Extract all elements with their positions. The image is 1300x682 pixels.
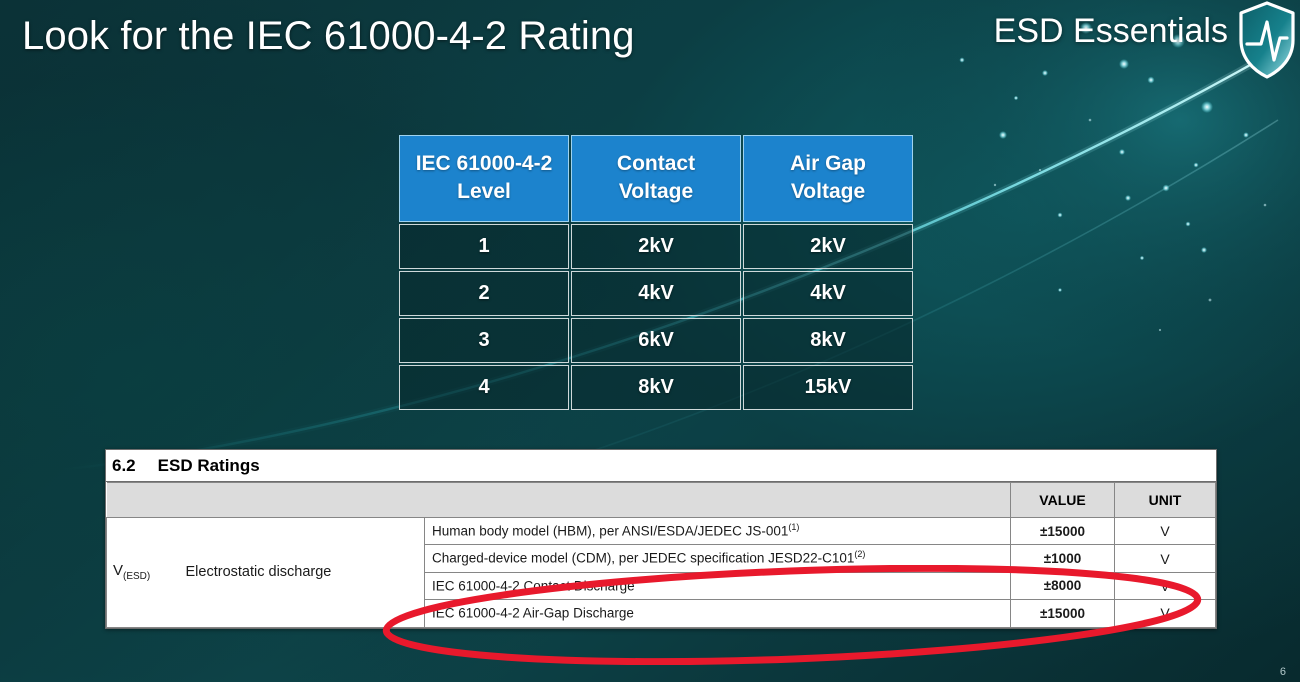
header-line-1: Air Gap — [790, 152, 866, 175]
cell-value: ±15000 — [1011, 518, 1115, 545]
column-header-air-gap-voltage: Air Gap Voltage — [743, 135, 913, 222]
description-text: Charged-device model (CDM), per JEDEC sp… — [432, 551, 854, 566]
cell-description: Charged-device model (CDM), per JEDEC sp… — [425, 545, 1011, 572]
cell-contact: 2kV — [571, 224, 741, 269]
symbol-subscript: (ESD) — [123, 571, 150, 582]
cell-level: 3 — [399, 318, 569, 363]
page-number: 6 — [1280, 666, 1286, 678]
header-line-2: Voltage — [791, 180, 865, 203]
esd-ratings-table: VALUE UNIT V(ESD) Electrostatic discharg… — [106, 482, 1216, 628]
table-row: 4 8kV 15kV — [399, 365, 913, 410]
footnote-marker: (2) — [854, 549, 865, 559]
cell-parameter: Electrostatic discharge — [179, 518, 425, 628]
header-line-2: Level — [457, 180, 511, 203]
table-row: V(ESD) Electrostatic discharge Human bod… — [107, 518, 1216, 545]
header-line-1: Contact — [617, 152, 695, 175]
column-header-unit: UNIT — [1115, 483, 1216, 518]
section-number: 6.2 — [112, 456, 136, 476]
cell-air-gap: 2kV — [743, 224, 913, 269]
cell-value: ±1000 — [1011, 545, 1115, 572]
cell-air-gap: 4kV — [743, 271, 913, 316]
table-header-row: VALUE UNIT — [107, 483, 1216, 518]
cell-contact: 4kV — [571, 271, 741, 316]
cell-unit: V — [1115, 600, 1216, 627]
cell-level: 1 — [399, 224, 569, 269]
cell-contact: 8kV — [571, 365, 741, 410]
cell-description: IEC 61000-4-2 Contact Discharge — [425, 572, 1011, 599]
cell-air-gap: 8kV — [743, 318, 913, 363]
cell-symbol: V(ESD) — [107, 518, 179, 628]
cell-value: ±8000 — [1011, 572, 1115, 599]
cell-unit: V — [1115, 572, 1216, 599]
iec-level-table: IEC 61000-4-2 Level Contact Voltage Air … — [397, 133, 915, 412]
header-line-2: Voltage — [619, 180, 693, 203]
column-header-level: IEC 61000-4-2 Level — [399, 135, 569, 222]
cell-description: Human body model (HBM), per ANSI/ESDA/JE… — [425, 518, 1011, 545]
cell-level: 2 — [399, 271, 569, 316]
cell-description: IEC 61000-4-2 Air-Gap Discharge — [425, 600, 1011, 627]
footnote-marker: (1) — [788, 522, 799, 532]
table-row: 3 6kV 8kV — [399, 318, 913, 363]
description-text: Human body model (HBM), per ANSI/ESDA/JE… — [432, 524, 788, 539]
column-header-contact-voltage: Contact Voltage — [571, 135, 741, 222]
table-row: 1 2kV 2kV — [399, 224, 913, 269]
description-text: IEC 61000-4-2 Air-Gap Discharge — [432, 606, 634, 621]
cell-unit: V — [1115, 518, 1216, 545]
column-header-blank — [107, 483, 1011, 518]
cell-unit: V — [1115, 545, 1216, 572]
header-line-1: IEC 61000-4-2 — [416, 152, 553, 175]
slide-canvas: Look for the IEC 61000-4-2 Rating ESD Es… — [0, 0, 1300, 682]
datasheet-section-heading: 6.2 ESD Ratings — [106, 450, 1216, 482]
cell-level: 4 — [399, 365, 569, 410]
cell-air-gap: 15kV — [743, 365, 913, 410]
description-text: IEC 61000-4-2 Contact Discharge — [432, 578, 635, 593]
section-title: ESD Ratings — [158, 456, 260, 476]
cell-contact: 6kV — [571, 318, 741, 363]
table-row: 2 4kV 4kV — [399, 271, 913, 316]
page-title: Look for the IEC 61000-4-2 Rating — [22, 14, 635, 59]
datasheet-excerpt: 6.2 ESD Ratings VALUE UNIT V(ESD) Elec — [105, 449, 1217, 629]
shield-pulse-icon — [1236, 0, 1298, 80]
column-header-value: VALUE — [1011, 483, 1115, 518]
brand-label: ESD Essentials — [994, 12, 1228, 51]
cell-value: ±15000 — [1011, 600, 1115, 627]
table-header-row: IEC 61000-4-2 Level Contact Voltage Air … — [399, 135, 913, 222]
symbol-base: V — [113, 562, 123, 579]
